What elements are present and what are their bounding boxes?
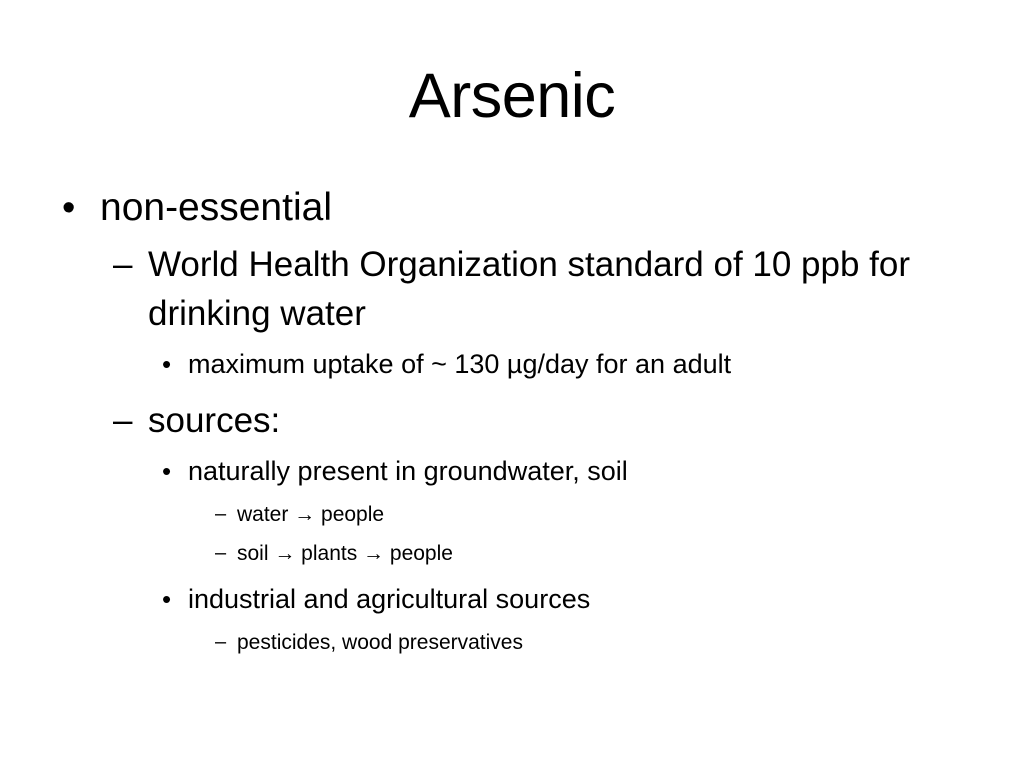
list-item: – sources: bbox=[0, 396, 1024, 445]
list-item-text: sources: bbox=[148, 396, 962, 445]
list-item: • naturally present in groundwater, soil bbox=[0, 449, 1024, 493]
list-item-text: pesticides, wood preservatives bbox=[237, 623, 944, 662]
list-item: – soil → plants → people bbox=[0, 534, 1024, 573]
slide: Arsenic • non-essential – World Health O… bbox=[0, 0, 1024, 768]
list-item-text: World Health Organization standard of 10… bbox=[148, 240, 962, 338]
bullet-dash-icon: – bbox=[113, 396, 132, 445]
list-item-text: maximum uptake of ~ 130 µg/day for an ad… bbox=[188, 342, 954, 386]
list-item-text: water → people bbox=[237, 495, 944, 534]
bullet-dot-icon: • bbox=[162, 577, 171, 621]
list-item-text: soil → plants → people bbox=[237, 534, 944, 573]
list-item-text: industrial and agricultural sources bbox=[188, 577, 954, 621]
page-title: Arsenic bbox=[0, 60, 1024, 132]
list-item: • industrial and agricultural sources bbox=[0, 577, 1024, 621]
slide-body: • non-essential – World Health Organizat… bbox=[0, 182, 1024, 662]
list-item: – pesticides, wood preservatives bbox=[0, 623, 1024, 662]
list-item: – water → people bbox=[0, 495, 1024, 534]
bullet-dot-icon: • bbox=[62, 182, 75, 234]
list-item-text: non-essential bbox=[100, 182, 964, 234]
bullet-dash-icon: – bbox=[113, 240, 132, 289]
bullet-dot-icon: • bbox=[162, 342, 171, 386]
bullet-dot-icon: • bbox=[162, 449, 171, 493]
list-item: • maximum uptake of ~ 130 µg/day for an … bbox=[0, 342, 1024, 386]
list-item: • non-essential bbox=[0, 182, 1024, 234]
list-item-text: naturally present in groundwater, soil bbox=[188, 449, 954, 493]
bullet-dash-icon: – bbox=[215, 623, 226, 662]
bullet-dash-icon: – bbox=[215, 534, 226, 573]
list-item: – World Health Organization standard of … bbox=[0, 240, 1024, 338]
bullet-dash-icon: – bbox=[215, 495, 226, 534]
